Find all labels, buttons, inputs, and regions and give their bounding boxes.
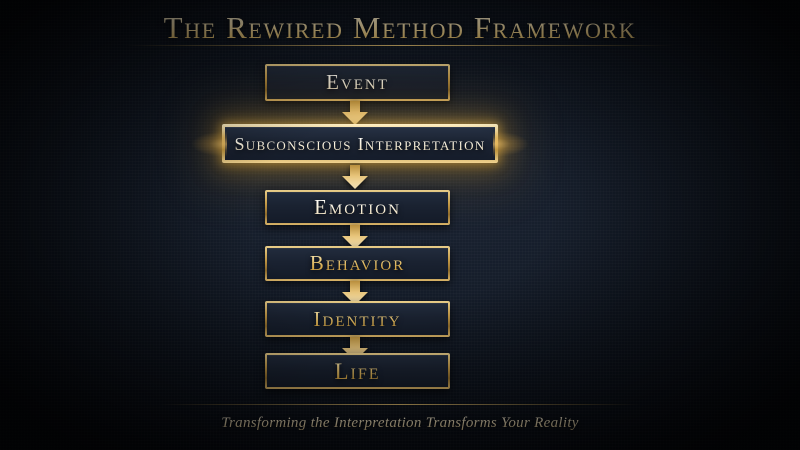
flow-node-label: Behavior [310,253,406,274]
arrow-down-icon [342,101,368,125]
footer-divider [160,404,640,405]
flow-node-event[interactable]: Event [265,64,450,101]
flow-node-label: Emotion [314,197,401,218]
flow-node-label: Subconscious Interpretation [234,135,485,153]
flow-node-life[interactable]: Life [265,353,450,389]
title-divider [125,45,675,46]
footer-block: Transforming the Interpretation Transfor… [0,414,800,432]
flow-node-emotion[interactable]: Emotion [265,190,450,225]
flow-node-subconscious-interpretation[interactable]: Subconscious Interpretation [222,124,498,163]
flow-node-label: Event [326,72,389,93]
flow-node-behavior[interactable]: Behavior [265,246,450,281]
glow-flare-right [493,129,539,159]
flow-node-identity[interactable]: Identity [265,301,450,337]
flow-node-label: Life [334,360,380,383]
flow-node-label: Identity [314,309,402,330]
page-title: The Rewired Method Framework [0,10,800,46]
arrow-down-icon [342,165,368,189]
title-block: The Rewired Method Framework [0,10,800,46]
framework-diagram: The Rewired Method Framework Event Subco… [0,0,800,450]
footer-tagline: Transforming the Interpretation Transfor… [221,415,579,431]
glow-flare-left [181,129,227,159]
